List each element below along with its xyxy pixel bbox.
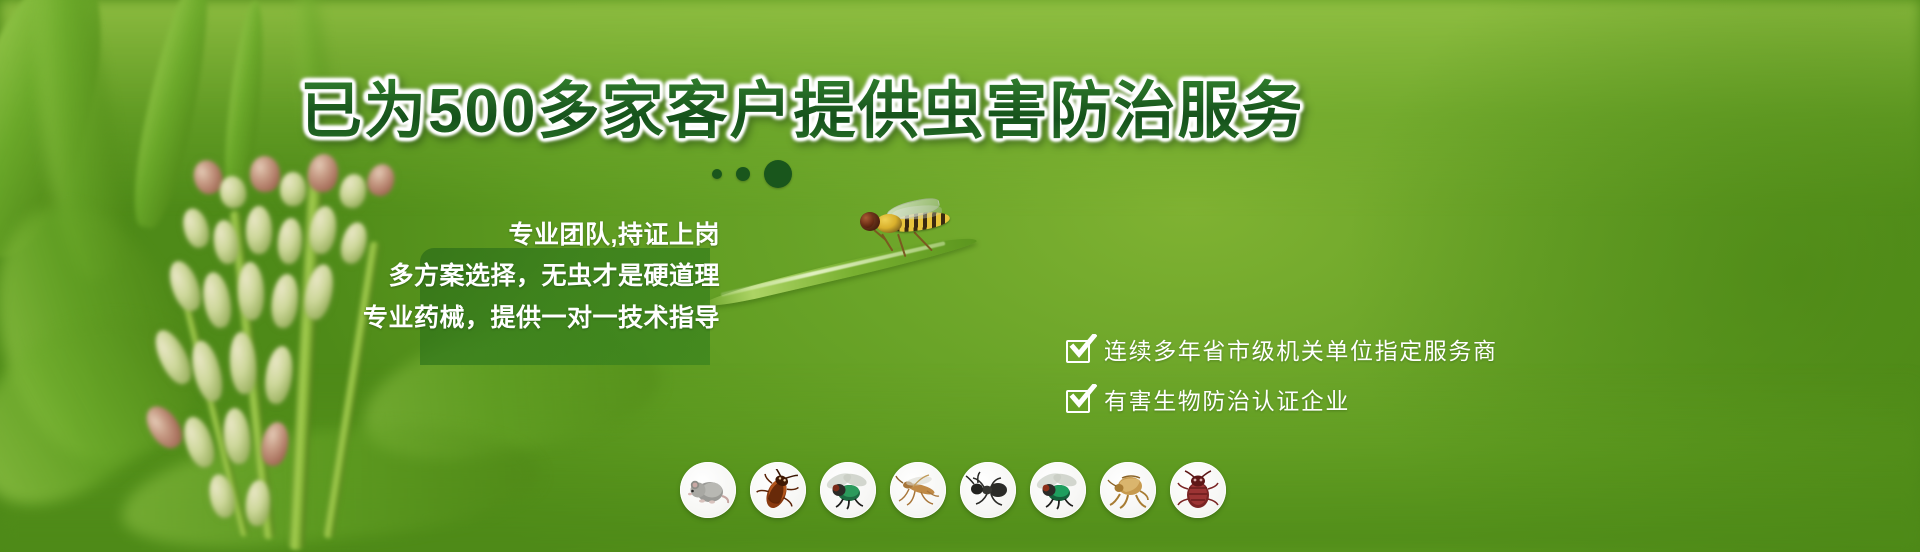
cockroach-icon[interactable] <box>750 462 806 518</box>
slogan-line-3: 专业药械，提供一对一技术指导 <box>363 300 720 336</box>
checklist-item-label: 连续多年省市级机关单位指定服务商 <box>1104 338 1498 364</box>
pest-control-hero-banner: 已为500多家客户提供虫害防治服务! 专业团队,持证上岗 多方案选择，无虫才是硬… <box>0 0 1920 552</box>
flea-icon[interactable] <box>1100 462 1156 518</box>
slogan-line-1: 专业团队,持证上岗 <box>509 218 720 252</box>
ant-icon[interactable] <box>960 462 1016 518</box>
greenbottle-fly-icon[interactable] <box>1030 462 1086 518</box>
hoverfly-eye <box>861 213 874 228</box>
hoverfly-on-leaf-scene <box>690 195 990 305</box>
hoverfly-icon <box>852 203 956 249</box>
mosquito-icon[interactable] <box>890 462 946 518</box>
checklist-item-label: 有害生物防治认证企业 <box>1104 388 1350 414</box>
decor-dot-medium <box>736 167 750 181</box>
plant-seedhead <box>150 150 440 552</box>
checklist-item: 连续多年省市级机关单位指定服务商 <box>1066 338 1606 364</box>
leaf-highlight <box>720 241 945 297</box>
page-title: 已为500多家客户提供虫害防治服务! <box>300 78 1300 146</box>
pest-icon-strip <box>680 462 1226 518</box>
decor-dot-small <box>712 169 722 179</box>
housefly-icon[interactable] <box>820 462 876 518</box>
slogan-text-group: 专业团队,持证上岗 多方案选择，无虫才是硬道理 专业药械，提供一对一技术指导 <box>340 218 720 336</box>
mouse-icon[interactable] <box>680 462 736 518</box>
checkbox-checked-icon <box>1066 388 1092 414</box>
credentials-checklist: 连续多年省市级机关单位指定服务商 有害生物防治认证企业 <box>1066 338 1606 414</box>
slogan-line-2: 多方案选择，无虫才是硬道理 <box>388 258 720 294</box>
decor-dot-group <box>712 160 792 188</box>
hoverfly-thorax <box>876 214 902 233</box>
bedbug-icon[interactable] <box>1170 462 1226 518</box>
checkbox-checked-icon <box>1066 338 1092 364</box>
decor-dot-large <box>764 160 792 188</box>
checklist-item: 有害生物防治认证企业 <box>1066 388 1606 414</box>
